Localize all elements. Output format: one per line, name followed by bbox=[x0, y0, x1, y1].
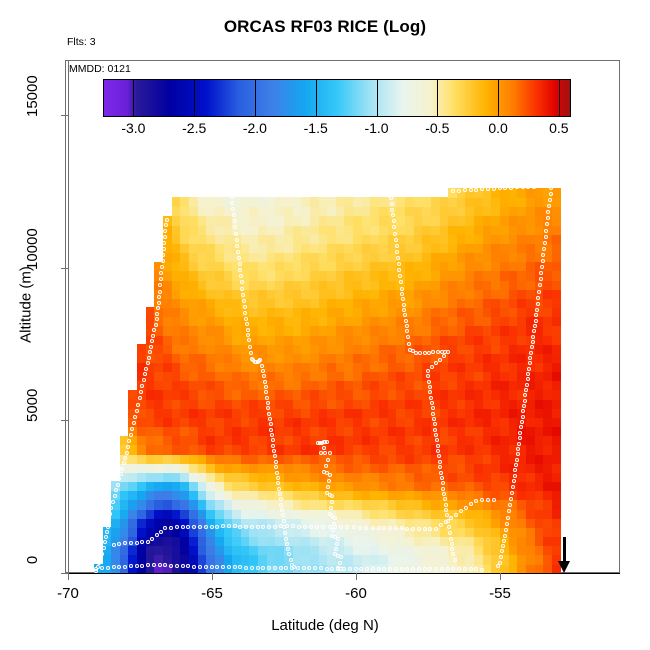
flight-track-point bbox=[325, 567, 329, 571]
flight-track-point bbox=[307, 192, 311, 196]
heatmap-cell bbox=[552, 417, 561, 427]
flight-track-point bbox=[104, 535, 108, 539]
flight-track-point bbox=[436, 444, 440, 448]
flight-track-point bbox=[527, 367, 531, 371]
flight-track-point bbox=[324, 464, 328, 468]
flight-track-point bbox=[165, 218, 169, 222]
flight-track-point bbox=[267, 192, 271, 196]
flight-track-point bbox=[242, 299, 246, 303]
flight-track-point bbox=[516, 452, 520, 456]
flight-track-point bbox=[365, 191, 369, 195]
flight-track-point bbox=[548, 198, 552, 202]
flight-track-point bbox=[480, 568, 484, 572]
flight-track-point bbox=[539, 277, 543, 281]
flight-track-point bbox=[221, 193, 225, 197]
flight-track-point bbox=[274, 460, 278, 464]
flight-track-point bbox=[390, 208, 394, 212]
flight-track-point bbox=[394, 567, 398, 571]
x-tick bbox=[356, 573, 357, 580]
heatmap-cell bbox=[552, 353, 561, 363]
flight-track-point bbox=[397, 262, 401, 266]
heatmap-cell bbox=[552, 362, 561, 372]
x-tick-label: -65 bbox=[201, 585, 223, 602]
flight-track-point bbox=[388, 567, 392, 571]
flight-track-point bbox=[290, 192, 294, 196]
flight-track-point bbox=[279, 503, 283, 507]
arrow-shaft bbox=[563, 537, 566, 564]
flight-track-point bbox=[329, 506, 333, 510]
flight-track-point bbox=[166, 201, 170, 205]
flight-track-point bbox=[246, 328, 250, 332]
flight-track-point bbox=[135, 564, 139, 568]
flight-track-point bbox=[243, 305, 247, 309]
flight-track-point bbox=[250, 566, 254, 570]
flight-track-point bbox=[521, 185, 525, 189]
flight-track-point bbox=[434, 527, 438, 531]
heatmap-cell bbox=[552, 252, 561, 262]
flight-track-point bbox=[393, 232, 397, 236]
flight-track-point bbox=[430, 365, 434, 369]
flight-track-point bbox=[132, 421, 136, 425]
flight-track-point bbox=[303, 525, 307, 529]
flight-track-point bbox=[418, 351, 422, 355]
flight-track-point bbox=[260, 364, 264, 368]
flight-track-point bbox=[328, 525, 332, 529]
flight-track-point bbox=[512, 479, 516, 483]
flight-track-point bbox=[198, 565, 202, 569]
flight-track-point bbox=[457, 189, 461, 193]
flight-track-point bbox=[106, 566, 110, 570]
flight-track-point bbox=[371, 567, 375, 571]
flight-track-point bbox=[448, 531, 452, 535]
heatmap-cell bbox=[552, 326, 561, 336]
flight-track-point bbox=[444, 503, 448, 507]
flight-track-point bbox=[112, 543, 116, 547]
colorbar-tick-label: 0.5 bbox=[549, 120, 568, 136]
flight-track-point bbox=[103, 540, 107, 544]
flight-track-point bbox=[125, 451, 129, 455]
flight-track-point bbox=[169, 564, 173, 568]
flight-track-point bbox=[233, 524, 237, 528]
flight-track-point bbox=[244, 193, 248, 197]
heatmap-cell bbox=[552, 317, 561, 327]
flight-track-point bbox=[157, 301, 161, 305]
flight-track-point bbox=[432, 417, 436, 421]
heatmap-cell bbox=[552, 271, 561, 281]
y-tick bbox=[61, 573, 68, 574]
colorbar-tick-label: -1.5 bbox=[304, 120, 328, 136]
flight-track-point bbox=[269, 428, 273, 432]
flight-track-point bbox=[142, 378, 146, 382]
flight-track-point bbox=[492, 187, 496, 191]
flight-track-point bbox=[135, 541, 139, 545]
flight-track-point bbox=[234, 232, 238, 236]
flight-track-point bbox=[439, 471, 443, 475]
flight-track-point bbox=[284, 192, 288, 196]
flight-track-point bbox=[405, 527, 409, 531]
flight-track-point bbox=[163, 235, 167, 239]
flight-track-point bbox=[215, 525, 219, 529]
heatmap-cell bbox=[552, 207, 561, 217]
flight-track-point bbox=[164, 223, 168, 227]
flight-track-point bbox=[440, 476, 444, 480]
heatmap-cell bbox=[552, 188, 561, 198]
flight-track-point bbox=[279, 497, 283, 501]
flight-track-point bbox=[105, 530, 109, 534]
flight-track-point bbox=[441, 487, 445, 491]
y-tick bbox=[61, 268, 68, 269]
x-tick bbox=[500, 573, 501, 580]
flight-track-point bbox=[429, 396, 433, 400]
flight-track-point bbox=[417, 567, 421, 571]
flight-track-point bbox=[411, 527, 415, 531]
heatmap-cell bbox=[552, 289, 561, 299]
flight-track-point bbox=[280, 508, 284, 512]
flight-track-point bbox=[529, 351, 533, 355]
flight-track-point bbox=[520, 420, 524, 424]
flight-track-point bbox=[297, 525, 301, 529]
flight-track-point bbox=[531, 335, 535, 339]
flight-track-point bbox=[266, 401, 270, 405]
flight-track-point bbox=[371, 526, 375, 530]
flight-track-point bbox=[289, 558, 293, 562]
y-axis-label: Altitude (m) bbox=[18, 225, 35, 385]
flight-track-point bbox=[129, 541, 133, 545]
flight-track-point bbox=[155, 533, 159, 537]
chart-title: ORCAS RF03 RICE (Log) bbox=[0, 17, 650, 37]
flight-track-point bbox=[338, 561, 342, 565]
flight-track-point bbox=[116, 483, 120, 487]
x-axis-label: Latitude (deg N) bbox=[0, 617, 650, 634]
colorbar-tick-label: -2.5 bbox=[182, 120, 206, 136]
flight-track-point bbox=[326, 458, 330, 462]
flight-track-point bbox=[135, 409, 139, 413]
flight-track-point bbox=[330, 500, 334, 504]
flight-track-point bbox=[400, 567, 404, 571]
colorbar-tick-label: -1.0 bbox=[364, 120, 388, 136]
y-tick-label: 0 bbox=[24, 545, 41, 575]
flight-track-point bbox=[446, 350, 450, 354]
heatmap-cell bbox=[552, 454, 561, 464]
flight-track-point bbox=[148, 350, 152, 354]
flight-track-point bbox=[267, 566, 271, 570]
flight-track-point bbox=[549, 192, 553, 196]
flight-track-point bbox=[405, 324, 409, 328]
flight-track-point bbox=[161, 259, 165, 263]
flight-track-point bbox=[325, 191, 329, 195]
flight-track-point bbox=[277, 487, 281, 491]
flight-track-point bbox=[486, 498, 490, 502]
x-tick bbox=[68, 573, 69, 580]
flight-track-point bbox=[513, 474, 517, 478]
colorbar-tick bbox=[437, 79, 438, 117]
flight-track-point bbox=[423, 527, 427, 531]
flight-track-point bbox=[521, 415, 525, 419]
flight-track-point bbox=[169, 526, 173, 530]
flight-track-point bbox=[442, 354, 446, 358]
down-arrow-marker bbox=[558, 537, 570, 574]
flight-track-point bbox=[319, 192, 323, 196]
flight-track-point bbox=[509, 186, 513, 190]
flight-track-point bbox=[273, 525, 277, 529]
heatmap-cell bbox=[552, 307, 561, 317]
flight-track-point bbox=[543, 241, 547, 245]
heatmap-cell bbox=[552, 243, 561, 253]
flight-track-point bbox=[542, 247, 546, 251]
flight-track-point bbox=[250, 525, 254, 529]
flight-track-point bbox=[149, 345, 153, 349]
flight-track-point bbox=[336, 191, 340, 195]
flight-track-point bbox=[241, 293, 245, 297]
heatmap-cell bbox=[552, 527, 561, 537]
flight-track-point bbox=[120, 467, 124, 471]
x-tick-label: -55 bbox=[489, 585, 511, 602]
flight-track-point bbox=[544, 235, 548, 239]
heatmap-cell bbox=[552, 381, 561, 391]
flight-track-point bbox=[377, 567, 381, 571]
heatmap-cell bbox=[552, 408, 561, 418]
y-tick-label: 5000 bbox=[24, 392, 41, 422]
flight-track-point bbox=[322, 446, 326, 450]
flight-track-point bbox=[158, 563, 162, 567]
flight-track-point bbox=[354, 567, 358, 571]
flight-track-point bbox=[388, 190, 392, 194]
heatmap-cell bbox=[552, 463, 561, 473]
flight-track-point bbox=[382, 191, 386, 195]
flight-track-point bbox=[267, 525, 271, 529]
flight-track-point bbox=[498, 186, 502, 190]
flight-track-point bbox=[407, 342, 411, 346]
flight-track-point bbox=[506, 516, 510, 520]
flight-track-point bbox=[273, 566, 277, 570]
colorbar-tick bbox=[498, 79, 499, 117]
flight-track-point bbox=[395, 244, 399, 248]
flight-track-point bbox=[535, 308, 539, 312]
colorbar-ticklabels: -3.0-2.5-2.0-1.5-1.0-0.50.00.5 bbox=[103, 120, 571, 138]
flight-track-point bbox=[256, 192, 260, 196]
flight-track-point bbox=[159, 530, 163, 534]
flight-track-point bbox=[302, 192, 306, 196]
flight-track-point bbox=[390, 202, 394, 206]
flight-track-point bbox=[492, 498, 496, 502]
heatmap-cell bbox=[552, 234, 561, 244]
heatmap-cell bbox=[552, 371, 561, 381]
flight-track-point bbox=[443, 497, 447, 501]
flight-track-point bbox=[389, 196, 393, 200]
flight-track-point bbox=[504, 528, 508, 532]
flight-track-point bbox=[525, 383, 529, 387]
flight-track-point bbox=[431, 406, 435, 410]
flight-track-point bbox=[123, 565, 127, 569]
flight-track-point bbox=[146, 361, 150, 365]
flight-track-point bbox=[256, 525, 260, 529]
flight-track-point bbox=[336, 567, 340, 571]
flight-track-point bbox=[162, 247, 166, 251]
flight-track-point bbox=[158, 290, 162, 294]
flight-track-point bbox=[204, 565, 208, 569]
flight-track-point bbox=[233, 219, 237, 223]
colorbar-tick bbox=[559, 79, 560, 117]
flight-track-point bbox=[237, 256, 241, 260]
heatmap-cell bbox=[552, 491, 561, 501]
flight-track-point bbox=[518, 436, 522, 440]
flight-track-point bbox=[431, 412, 435, 416]
heatmap-cell bbox=[552, 500, 561, 510]
flight-track-point bbox=[365, 567, 369, 571]
flight-track-point bbox=[544, 184, 548, 188]
x-tick bbox=[212, 573, 213, 580]
flight-track-point bbox=[426, 369, 430, 373]
y-tick bbox=[61, 115, 68, 116]
flight-track-point bbox=[204, 193, 208, 197]
x-axis-line bbox=[68, 573, 620, 574]
flight-track-point bbox=[244, 525, 248, 529]
flights-count-label: Flts: 3 bbox=[67, 36, 96, 48]
flight-track-point bbox=[442, 492, 446, 496]
flight-track-point bbox=[450, 542, 454, 546]
colorbar: -3.0-2.5-2.0-1.5-1.0-0.50.00.5 bbox=[103, 79, 571, 117]
heatmap-cell bbox=[552, 216, 561, 226]
flight-track-point bbox=[215, 193, 219, 197]
y-tick-label: 15000 bbox=[24, 87, 41, 117]
flight-track-point bbox=[268, 417, 272, 421]
flight-track-point bbox=[133, 415, 137, 419]
heatmap-cell bbox=[552, 335, 561, 345]
flight-track-point bbox=[523, 399, 527, 403]
heatmap-cell bbox=[552, 481, 561, 491]
figure-canvas: ORCAS RF03 RICE (Log) Flts: 3 MMDD: 0121… bbox=[0, 0, 650, 650]
flight-track-point bbox=[249, 351, 253, 355]
flight-track-point bbox=[534, 319, 538, 323]
flight-track-point bbox=[263, 380, 267, 384]
flight-track-point bbox=[230, 195, 234, 199]
flight-track-point bbox=[486, 187, 490, 191]
flight-track-point bbox=[238, 525, 242, 529]
flight-track-point bbox=[400, 287, 404, 291]
flight-track-point bbox=[339, 525, 343, 529]
flight-track-point bbox=[267, 412, 271, 416]
flight-track-point bbox=[417, 527, 421, 531]
flight-track-point bbox=[129, 433, 133, 437]
flight-track-point bbox=[273, 192, 277, 196]
flight-track-point bbox=[204, 525, 208, 529]
x-tick-label: -60 bbox=[345, 585, 367, 602]
flight-track-point bbox=[151, 334, 155, 338]
flight-track-point bbox=[541, 259, 545, 263]
flight-track-point bbox=[198, 525, 202, 529]
flight-track-point bbox=[423, 567, 427, 571]
flight-track-point bbox=[536, 302, 540, 306]
flight-track-point bbox=[447, 525, 451, 529]
heatmap-cell bbox=[552, 225, 561, 235]
flight-track-point bbox=[261, 192, 265, 196]
flight-track-point bbox=[511, 485, 515, 489]
heatmap-cell bbox=[552, 436, 561, 446]
flight-track-point bbox=[438, 460, 442, 464]
colorbar-tick-label: 0.0 bbox=[488, 120, 507, 136]
flight-track-point bbox=[244, 566, 248, 570]
flight-track-point bbox=[402, 303, 406, 307]
flight-track-point bbox=[181, 564, 185, 568]
flight-track-point bbox=[210, 193, 214, 197]
flight-track-point bbox=[275, 471, 279, 475]
flight-track-point bbox=[309, 525, 313, 529]
flight-track-point bbox=[256, 566, 260, 570]
flight-track-point bbox=[358, 526, 362, 530]
colorbar-tick bbox=[133, 79, 134, 117]
flight-track-point bbox=[449, 537, 453, 541]
flight-track-point bbox=[147, 356, 151, 360]
flight-track-point bbox=[111, 500, 115, 504]
flight-track-point bbox=[99, 557, 103, 561]
flight-track-point bbox=[192, 525, 196, 529]
flight-track-point bbox=[264, 385, 268, 389]
flight-track-point bbox=[181, 525, 185, 529]
heatmap-cell bbox=[552, 518, 561, 528]
flight-track-point bbox=[119, 472, 123, 476]
flight-track-point bbox=[348, 567, 352, 571]
flight-track-point bbox=[436, 350, 440, 354]
y-tick bbox=[61, 420, 68, 421]
flight-track-point bbox=[136, 403, 140, 407]
flight-track-point bbox=[342, 567, 346, 571]
flight-track-point bbox=[330, 191, 334, 195]
heatmap-cell bbox=[552, 298, 561, 308]
flight-track-point bbox=[537, 290, 541, 294]
flight-track-point bbox=[279, 566, 283, 570]
flight-track-point bbox=[396, 256, 400, 260]
heatmap-cell bbox=[552, 280, 561, 290]
flight-track-point bbox=[154, 323, 158, 327]
flight-track-point bbox=[427, 380, 431, 384]
flight-track-point bbox=[441, 481, 445, 485]
flight-track-point bbox=[354, 191, 358, 195]
heatmap-cell bbox=[552, 509, 561, 519]
flight-track-point bbox=[102, 546, 106, 550]
flight-track-point bbox=[210, 565, 214, 569]
flight-track-point bbox=[348, 191, 352, 195]
heatmap-cell bbox=[552, 426, 561, 436]
flight-track-point bbox=[282, 519, 286, 523]
flight-track-point bbox=[235, 238, 239, 242]
flight-track-point bbox=[404, 319, 408, 323]
flight-track-point bbox=[166, 207, 170, 211]
flight-track-point bbox=[544, 229, 548, 233]
heatmap-cell bbox=[552, 390, 561, 400]
flight-track-point bbox=[315, 525, 319, 529]
flight-track-point bbox=[250, 193, 254, 197]
colorbar-tick bbox=[255, 79, 256, 117]
flight-track-point bbox=[359, 191, 363, 195]
flight-track-point bbox=[107, 519, 111, 523]
flight-track-point bbox=[238, 193, 242, 197]
flight-track-point bbox=[175, 564, 179, 568]
heatmap-cell bbox=[552, 344, 561, 354]
y-axis-line bbox=[68, 60, 69, 573]
colorbar-tick-label: -2.0 bbox=[243, 120, 267, 136]
flight-track-point bbox=[210, 525, 214, 529]
flight-track-point bbox=[505, 522, 509, 526]
colorbar-tick bbox=[316, 79, 317, 117]
flight-track-point bbox=[248, 345, 252, 349]
flight-track-point bbox=[430, 401, 434, 405]
flight-track-point bbox=[377, 191, 381, 195]
flight-track-point bbox=[428, 385, 432, 389]
arrow-head bbox=[558, 561, 570, 573]
flight-track-point bbox=[238, 262, 242, 266]
flight-track-point bbox=[302, 566, 306, 570]
colorbar-tick-label: -3.0 bbox=[121, 120, 145, 136]
